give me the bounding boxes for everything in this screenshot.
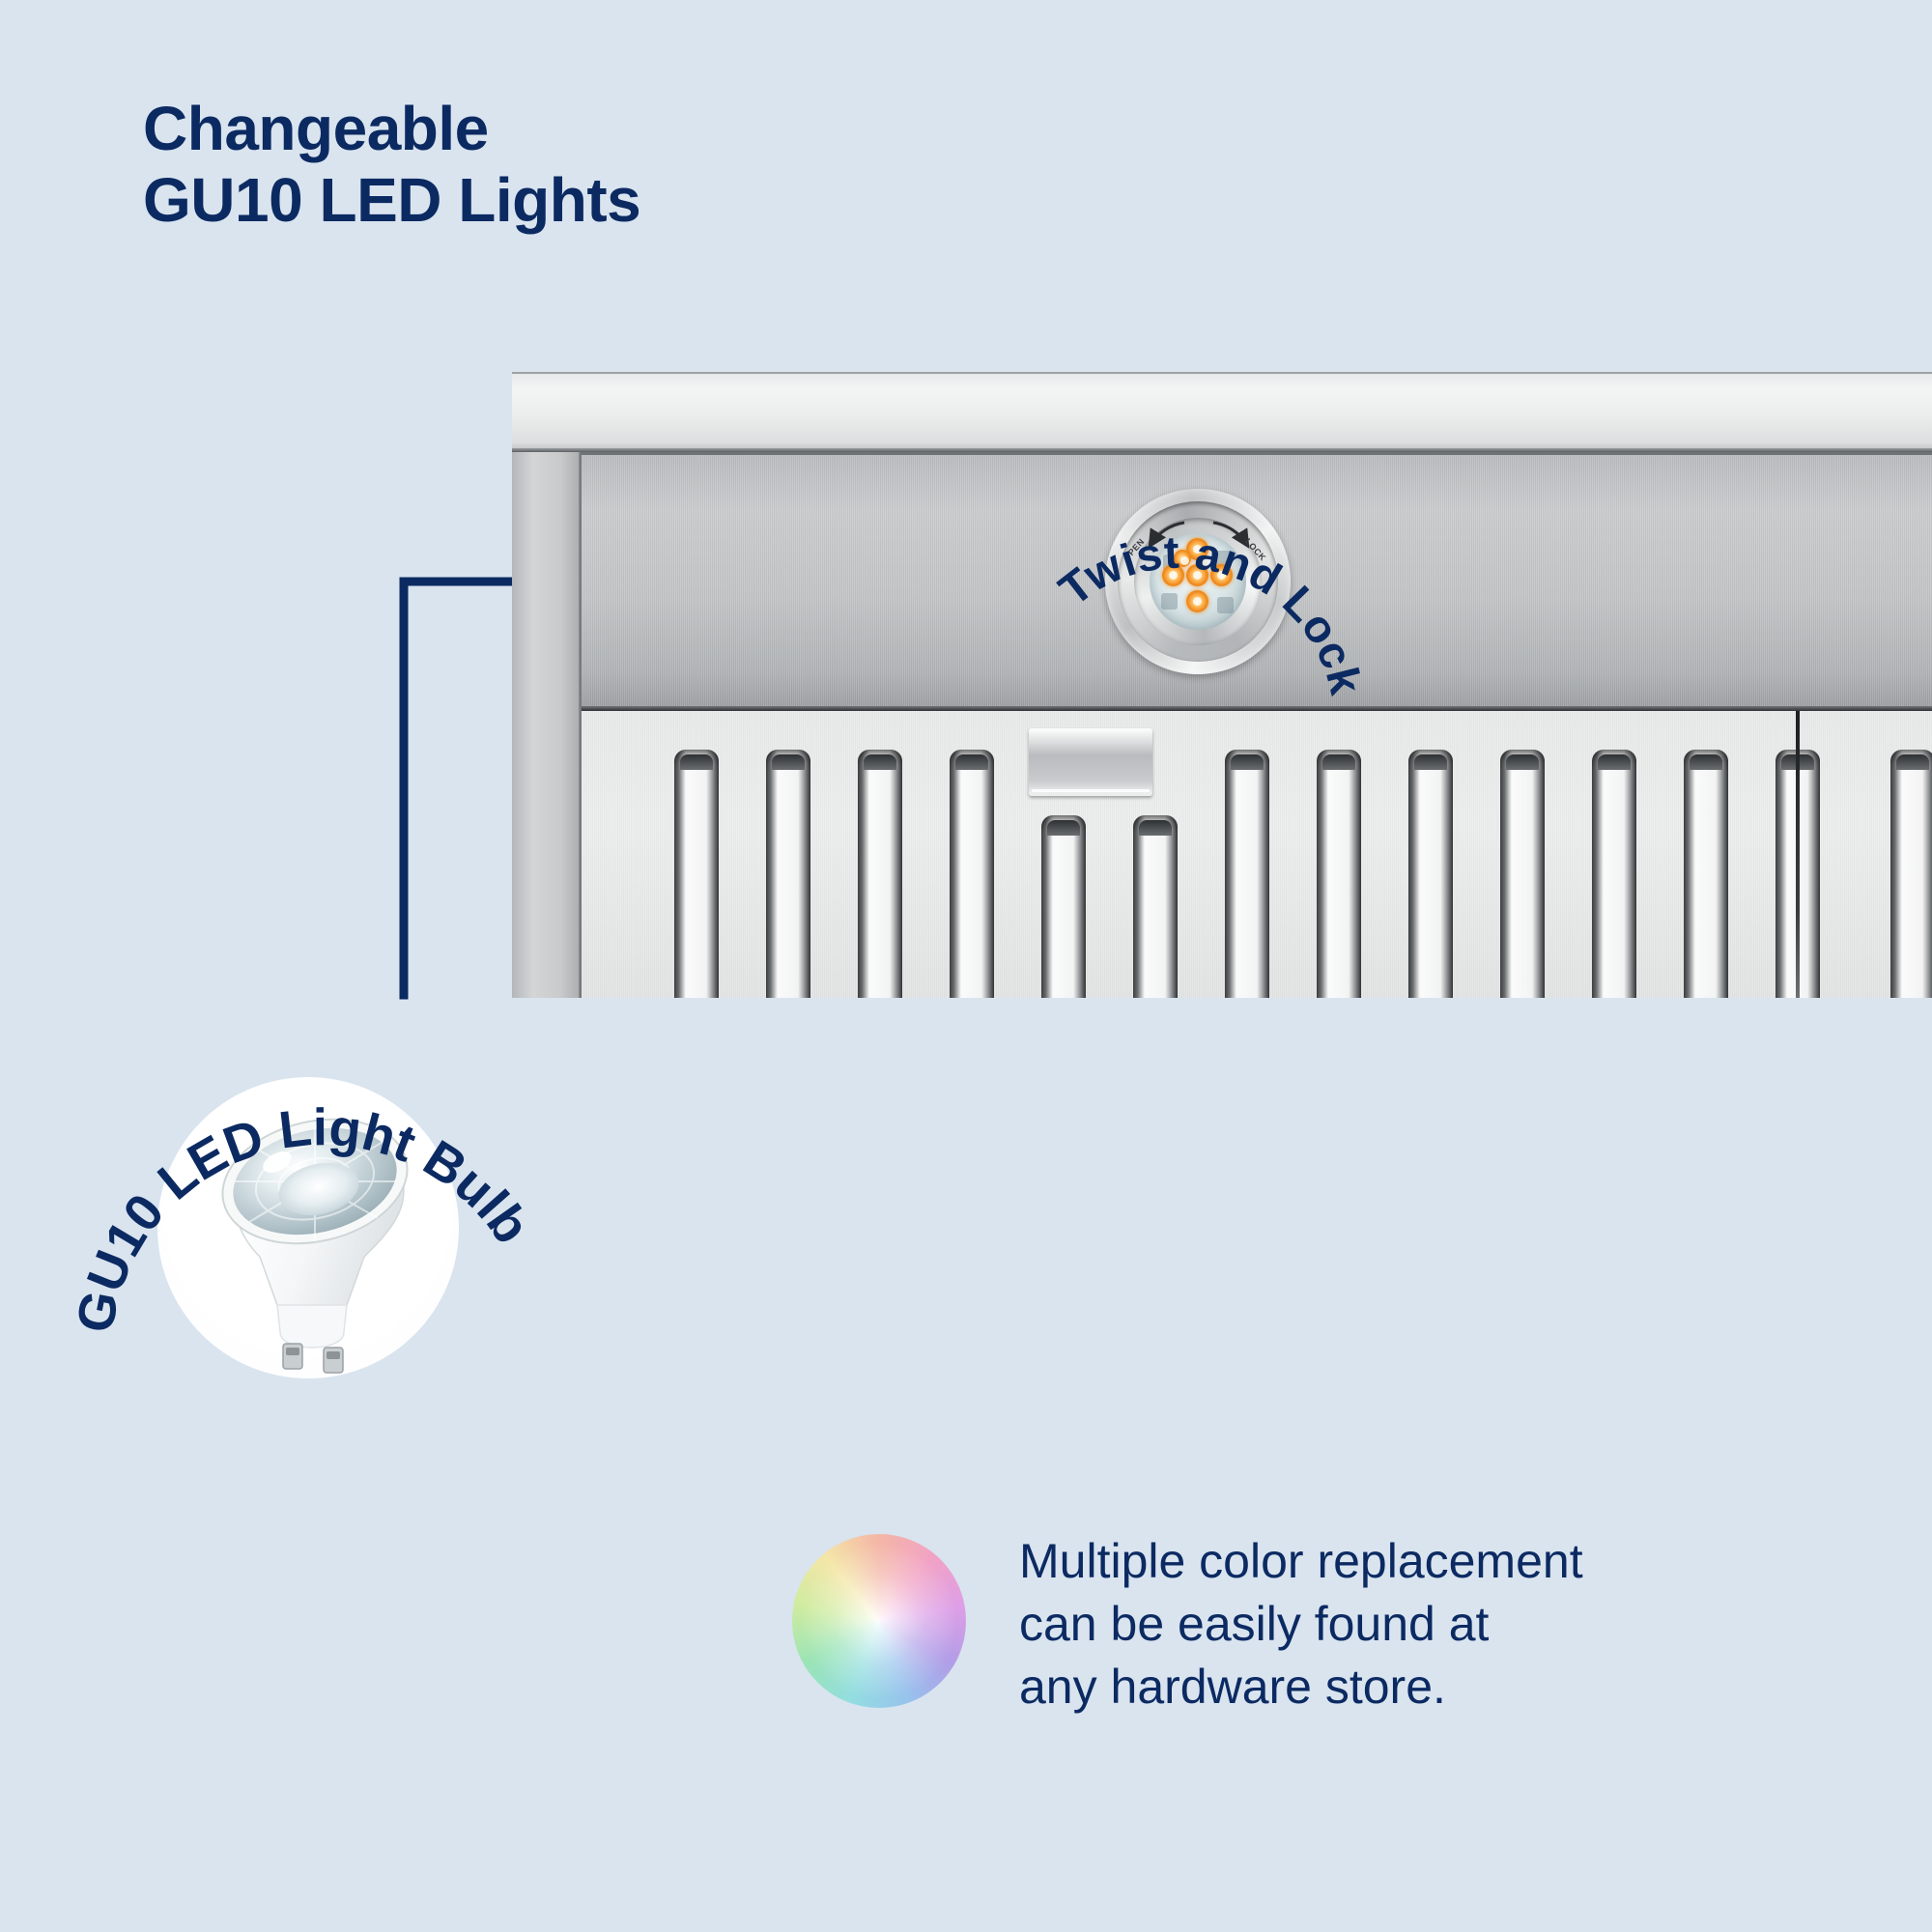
hood-left-side-strip: [512, 452, 582, 998]
svg-text:GU10 LED Light Bulb: GU10 LED Light Bulb: [66, 1098, 541, 1337]
filter-slot: [1317, 750, 1361, 998]
page-title: Changeable GU10 LED Lights: [143, 93, 640, 236]
twist-and-lock-text: Twist and Lock: [1049, 526, 1372, 700]
svg-text:Twist and Lock: Twist and Lock: [1049, 526, 1372, 700]
filter-slot: [1684, 750, 1728, 998]
filter-slot: [1500, 750, 1545, 998]
feature-line-3: any hardware store.: [1019, 1656, 1583, 1719]
color-wheel-icon: [792, 1534, 966, 1708]
feature-line-1: Multiple color replacement: [1019, 1530, 1583, 1593]
feature-line-2: can be easily found at: [1019, 1593, 1583, 1656]
filter-slot: [1408, 750, 1453, 998]
title-line-1: Changeable: [143, 93, 640, 164]
gu10-bulb-curved-label: GU10 LED Light Bulb: [58, 976, 560, 1478]
filter-slot: [858, 750, 902, 998]
title-line-2: GU10 LED Lights: [143, 164, 640, 236]
filter-slot: [1225, 750, 1269, 998]
feature-description: Multiple color replacement can be easily…: [1019, 1530, 1583, 1719]
filter-seam: [1796, 711, 1800, 998]
filter-slot: [1133, 815, 1178, 998]
filter-slot: [674, 750, 719, 998]
gu10-bulb-text: GU10 LED Light Bulb: [66, 1098, 541, 1337]
filter-slot: [1592, 750, 1636, 998]
filter-slot: [766, 750, 810, 998]
filter-slot: [1041, 815, 1086, 998]
filter-slot: [950, 750, 994, 998]
twist-and-lock-curved-label: Twist and Lock: [1024, 406, 1391, 773]
filter-slot: [1890, 750, 1932, 998]
